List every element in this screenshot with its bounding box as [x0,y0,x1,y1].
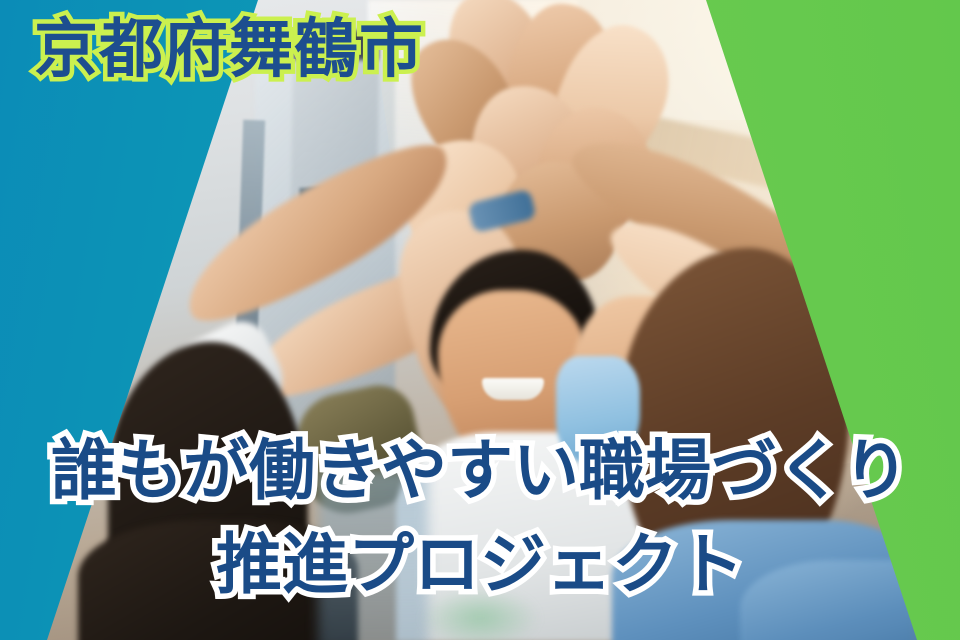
headline-line-2: 推進プロジェクト [0,532,960,598]
city-title: 京都府舞鶴市 [34,14,424,88]
headline-block: 誰もが働きやすい職場づくり 推進プロジェクト [0,438,960,598]
headline-line-1: 誰もが働きやすい職場づくり [0,438,960,504]
photo-person-center-smile [482,378,544,400]
promo-banner: 京都府舞鶴市 誰もが働きやすい職場づくり 推進プロジェクト [0,0,960,640]
